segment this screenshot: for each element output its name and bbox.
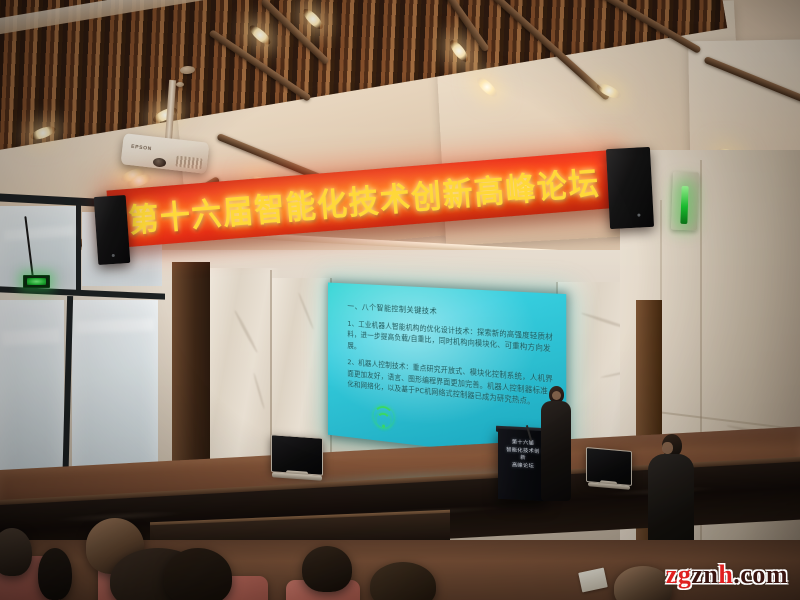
- watermark: zgznh.com: [666, 560, 788, 590]
- watermark-part-3: h: [718, 560, 733, 589]
- tv-monitor-left: [271, 434, 323, 476]
- loudspeaker-right: [606, 147, 654, 229]
- exit-sign-icon: [23, 275, 50, 288]
- watermark-domain: .com: [733, 560, 788, 589]
- conference-hall-photo: EPSON 第十六届智: [0, 0, 800, 600]
- attendee-face: [662, 442, 673, 454]
- audience-head-2: [38, 548, 72, 600]
- watermark-part-1: zg: [666, 560, 692, 589]
- sprinkler-head: [176, 82, 184, 87]
- podium-sign: 第十六届 智能化技术创新 高峰论坛: [504, 439, 542, 471]
- wifi-icon: [374, 412, 392, 429]
- loudspeaker-left-led: [112, 254, 115, 257]
- audience-head-6: [302, 546, 352, 592]
- presenter-body: [541, 401, 571, 501]
- exit-sign-glyph: [27, 278, 46, 285]
- loudspeaker-right-led: [637, 213, 640, 216]
- loudspeaker-left: [94, 195, 131, 265]
- presenter-face: [552, 391, 561, 400]
- audience-head-5: [164, 548, 232, 600]
- window-mullion-vertical-1: [76, 204, 81, 294]
- presenter: [540, 386, 572, 500]
- emergency-light-icon: [680, 186, 688, 224]
- wifi-dot: [382, 424, 385, 427]
- watermark-part-2: zn: [691, 560, 718, 589]
